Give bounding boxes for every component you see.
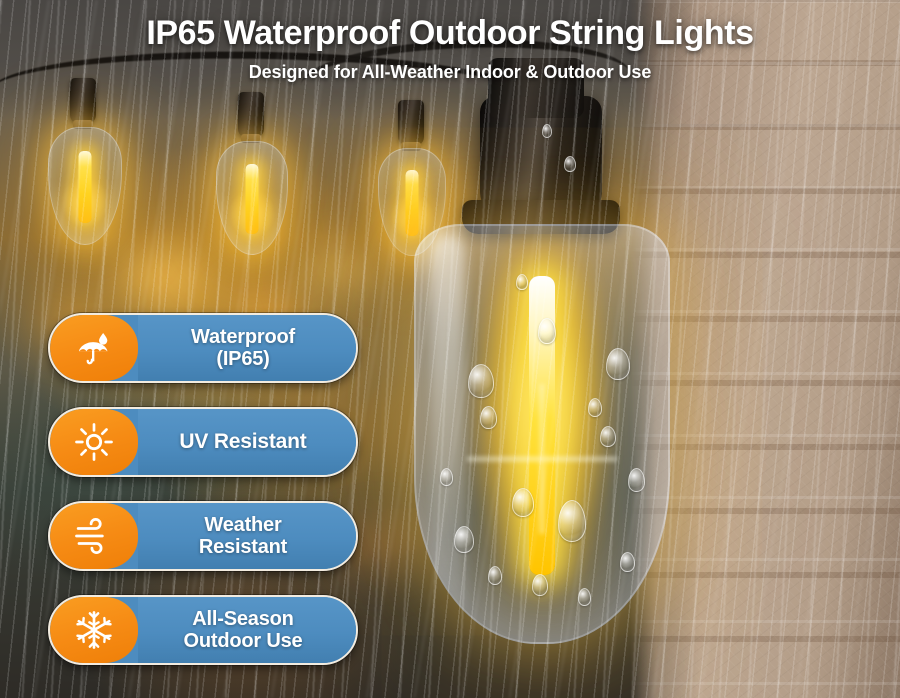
bokeh-light [300, 250, 380, 290]
feature-badge-weather-resistant[interactable]: Weather Resistant [48, 501, 358, 571]
water-droplet [600, 426, 616, 447]
product-marketing-banner: IP65 Waterproof Outdoor String Lights De… [0, 0, 900, 698]
water-droplet [588, 398, 602, 417]
bulb-filament [246, 164, 259, 233]
wind-icon [50, 503, 138, 569]
feature-badge-list: Waterproof (IP65) [48, 313, 358, 665]
water-droplet [516, 274, 528, 290]
water-droplet [578, 588, 591, 606]
hero-bulb [392, 96, 692, 656]
water-droplet [542, 124, 552, 138]
feature-badge-uv-resistant[interactable]: UV Resistant [48, 407, 358, 477]
water-droplet [512, 488, 534, 517]
bulb-socket [70, 78, 96, 124]
water-droplet [564, 156, 576, 172]
water-droplet [480, 406, 497, 429]
water-droplet [606, 348, 630, 380]
snowflake-icon [50, 597, 138, 663]
feature-badge-label: Waterproof (IP65) [138, 315, 356, 381]
feature-badge-label: UV Resistant [138, 409, 356, 475]
water-droplet [558, 500, 586, 542]
sun-icon [50, 409, 138, 475]
feature-badge-waterproof[interactable]: Waterproof (IP65) [48, 313, 358, 383]
bokeh-light [120, 250, 210, 304]
water-droplet [468, 364, 494, 398]
bulb-socket [238, 92, 264, 138]
water-droplet [440, 468, 453, 486]
feature-badge-all-season[interactable]: All-Season Outdoor Use [48, 595, 358, 665]
page-title: IP65 Waterproof Outdoor String Lights [0, 14, 900, 53]
umbrella-rain-icon [50, 315, 138, 381]
water-droplet [538, 318, 556, 344]
water-droplet [488, 566, 502, 585]
header: IP65 Waterproof Outdoor String Lights De… [0, 14, 900, 83]
water-droplet [532, 574, 548, 596]
page-subtitle: Designed for All-Weather Indoor & Outdoo… [0, 62, 900, 83]
bulb-filament [79, 151, 92, 223]
water-droplet [620, 552, 635, 572]
water-droplet [628, 468, 645, 492]
feature-badge-label: All-Season Outdoor Use [138, 597, 356, 663]
hero-bulb-highlight [431, 234, 465, 617]
water-droplet [454, 526, 474, 553]
feature-badge-label: Weather Resistant [138, 503, 356, 569]
